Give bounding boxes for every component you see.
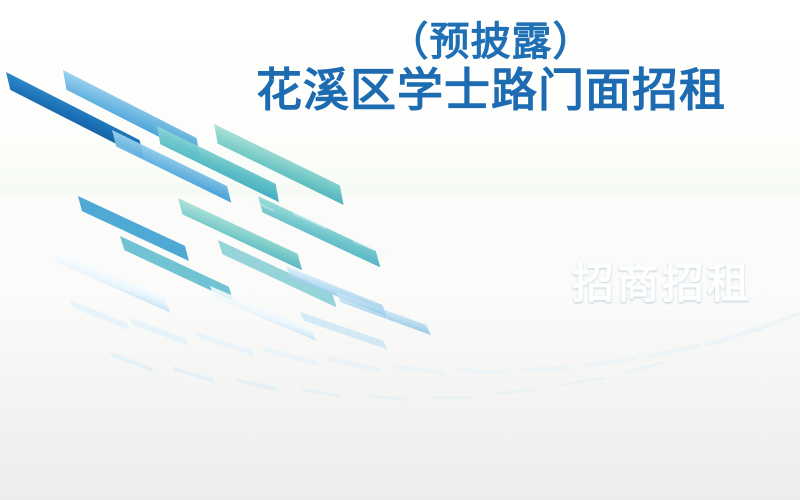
bottom-blue-band (0, 196, 800, 500)
banner-caption: 招商招租 (572, 250, 752, 311)
headline-line-2: 花溪区学士路门面招租 (256, 67, 726, 114)
promo-banner: （预披露） 花溪区学士路门面招租 招商招租 (0, 0, 800, 500)
banner-headline: （预披露） 花溪区学士路门面招租 (256, 22, 726, 114)
headline-line-1: （预披露） (256, 22, 726, 63)
